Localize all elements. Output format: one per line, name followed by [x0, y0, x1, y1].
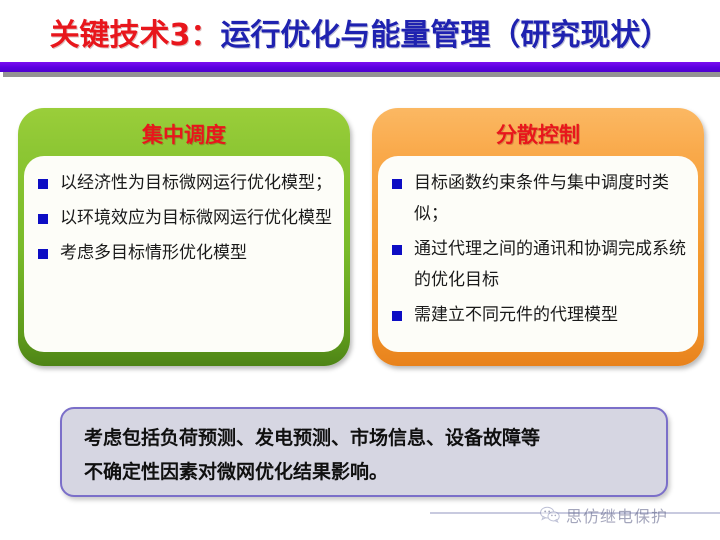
title-divider-bar: [0, 62, 720, 72]
title-divider-shadow: [3, 72, 720, 77]
wechat-icon: [540, 506, 560, 524]
slide-canvas: 关键技术3：运行优化与能量管理（研究现状） 集中调度 以经济性为目标微网运行优化…: [0, 0, 720, 540]
list-item: 以经济性为目标微网运行优化模型；: [36, 168, 334, 199]
watermark: 思仿继电保护: [540, 503, 668, 527]
list-item: 考虑多目标情形优化模型: [36, 238, 334, 269]
summary-callout-line-2: 不确定性因素对微网优化结果影响。: [84, 455, 648, 489]
title-red-segment: 关键技术3：: [50, 18, 221, 53]
panel-distributed-control: 分散控制 目标函数约束条件与集中调度时类似； 通过代理之间的通讯和协调完成系统的…: [372, 108, 704, 366]
watermark-text: 思仿继电保护: [566, 503, 668, 527]
summary-callout: 考虑包括负荷预测、发电预测、市场信息、设备故障等 不确定性因素对微网优化结果影响…: [60, 407, 668, 497]
list-item: 以环境效应为目标微网运行优化模型: [36, 203, 334, 234]
list-item: 需建立不同元件的代理模型: [390, 300, 688, 331]
panel-body-distributed-control: 目标函数约束条件与集中调度时类似； 通过代理之间的通讯和协调完成系统的优化目标 …: [378, 156, 698, 352]
bullet-list-centralized-dispatch: 以经济性为目标微网运行优化模型； 以环境效应为目标微网运行优化模型 考虑多目标情…: [36, 168, 334, 269]
bullet-list-distributed-control: 目标函数约束条件与集中调度时类似； 通过代理之间的通讯和协调完成系统的优化目标 …: [390, 168, 688, 331]
panel-body-centralized-dispatch: 以经济性为目标微网运行优化模型； 以环境效应为目标微网运行优化模型 考虑多目标情…: [24, 156, 344, 352]
page-title: 关键技术3：运行优化与能量管理（研究现状）: [0, 14, 720, 60]
list-item: 目标函数约束条件与集中调度时类似；: [390, 168, 688, 230]
summary-callout-line-1: 考虑包括负荷预测、发电预测、市场信息、设备故障等: [84, 421, 648, 455]
panel-centralized-dispatch: 集中调度 以经济性为目标微网运行优化模型； 以环境效应为目标微网运行优化模型 考…: [18, 108, 350, 366]
panel-title-distributed-control: 分散控制: [378, 114, 698, 156]
list-item: 通过代理之间的通讯和协调完成系统的优化目标: [390, 234, 688, 296]
title-blue-segment: 运行优化与能量管理（研究现状）: [220, 18, 670, 53]
panel-title-centralized-dispatch: 集中调度: [24, 114, 344, 156]
